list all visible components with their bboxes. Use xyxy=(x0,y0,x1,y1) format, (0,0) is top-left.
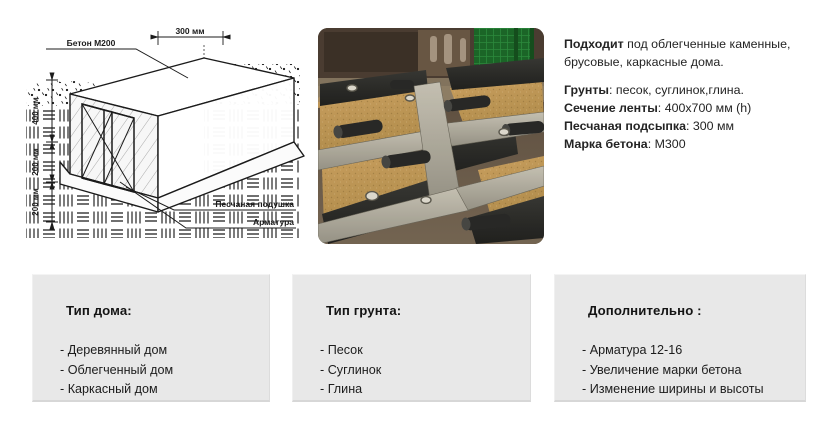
option-box-soil-type[interactable]: Тип грунта: - Песок - Суглинок - Глина xyxy=(292,274,531,402)
option-list: - Песок - Суглинок - Глина xyxy=(320,341,381,400)
callout-rebar-label: Арматура xyxy=(253,217,294,227)
spec-intro-bold: Подходит xyxy=(564,37,624,51)
option-list: - Арматура 12-16 - Увеличение марки бето… xyxy=(582,341,764,400)
option-box-title: Тип грунта: xyxy=(326,303,401,318)
option-list-item[interactable]: - Песок xyxy=(320,341,381,361)
callout-sand-label: Песчаная подушка xyxy=(215,199,294,209)
option-list-item[interactable]: - Суглинок xyxy=(320,361,381,381)
foundation-technical-diagram: 300 мм 400 мм 200 мм 200 мм Бетон М200 П… xyxy=(8,22,308,244)
dimension-left-label-3: 200 мм xyxy=(31,188,40,215)
option-box-house-type[interactable]: Тип дома: - Деревянный дом - Облегченный… xyxy=(32,274,270,402)
option-list-item[interactable]: - Каркасный дом xyxy=(60,380,173,400)
spec-intro: Подходит под облегченные каменные, брусо… xyxy=(564,36,816,72)
dimension-top-label: 300 мм xyxy=(175,26,204,36)
spec-row-value: песок, суглинок,глина. xyxy=(616,83,744,97)
option-list-item[interactable]: - Облегченный дом xyxy=(60,361,173,381)
option-list-item[interactable]: - Изменение ширины и высоты xyxy=(582,380,764,400)
spec-row-label: Марка бетона xyxy=(564,137,648,151)
option-list-item[interactable]: - Деревянный дом xyxy=(60,341,173,361)
option-list-item[interactable]: - Увеличение марки бетона xyxy=(582,361,764,381)
option-list-item[interactable]: - Арматура 12-16 xyxy=(582,341,764,361)
spec-row-sep: : xyxy=(609,83,616,97)
spec-row: Грунты: песок, суглинок,глина. xyxy=(564,82,816,100)
callout-concrete-label: Бетон М200 xyxy=(67,38,116,48)
option-box-title: Дополнительно : xyxy=(588,303,702,318)
spec-row: Сечение ленты: 400х700 мм (h) xyxy=(564,100,816,118)
spec-row-sep: : xyxy=(658,101,665,115)
option-box-additional[interactable]: Дополнительно : - Арматура 12-16 - Увели… xyxy=(554,274,806,402)
specification-text: Подходит под облегченные каменные, брусо… xyxy=(564,36,816,154)
dimension-left-label-1: 400 мм xyxy=(31,97,40,124)
spec-row-sep: : xyxy=(648,137,655,151)
spec-rows: Грунты: песок, суглинок,глина. Сечение л… xyxy=(564,82,816,154)
spec-row-label: Сечение ленты xyxy=(564,101,658,115)
option-list-item[interactable]: - Глина xyxy=(320,380,381,400)
spec-row-value: 400х700 мм (h) xyxy=(665,101,752,115)
spec-row: Марка бетона: М300 xyxy=(564,136,816,154)
option-list: - Деревянный дом - Облегченный дом - Кар… xyxy=(60,341,173,400)
spec-row: Песчаная подсыпка: 300 мм xyxy=(564,118,816,136)
option-boxes-row: Тип дома: - Деревянный дом - Облегченный… xyxy=(0,274,820,404)
spec-row-value: М300 xyxy=(655,137,686,151)
spec-row-value: 300 мм xyxy=(693,119,734,133)
page-root: 300 мм 400 мм 200 мм 200 мм Бетон М200 П… xyxy=(0,0,820,439)
spec-row-label: Грунты xyxy=(564,83,609,97)
spec-row-sep: : xyxy=(686,119,693,133)
dimension-left-label-2: 200 мм xyxy=(31,148,40,175)
foundation-site-photo xyxy=(318,28,544,244)
option-box-title: Тип дома: xyxy=(66,303,132,318)
spec-row-label: Песчаная подсыпка xyxy=(564,119,686,133)
